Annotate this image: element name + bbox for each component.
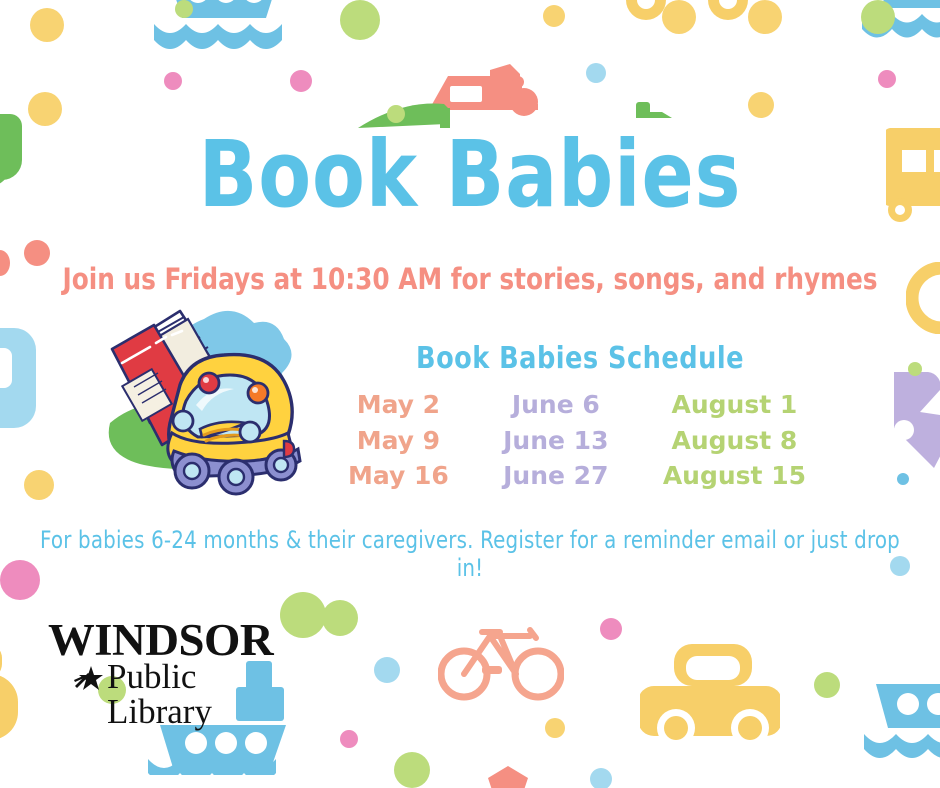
schedule-columns: May 2 May 9 May 16 June 6 June 13 June 2… (330, 390, 830, 492)
registration-note: For babies 6-24 months & their caregiver… (38, 526, 903, 582)
schedule-date: August 8 (663, 426, 806, 457)
schedule-section: Book Babies Schedule May 2 May 9 May 16 … (330, 344, 830, 492)
school-bus-and-book-illustration (88, 305, 303, 500)
schedule-date: August 15 (663, 461, 806, 492)
schedule-date: May 16 (348, 461, 449, 492)
schedule-date: June 6 (503, 390, 608, 421)
schedule-date: August 1 (663, 390, 806, 421)
schedule-heading: Book Babies Schedule (343, 344, 818, 374)
schedule-date: June 27 (503, 461, 608, 492)
schedule-column-august: August 1 August 8 August 15 (663, 390, 806, 492)
schedule-date: May 2 (348, 390, 449, 421)
windsor-public-library-logo: WINDSOR Public Library (48, 618, 278, 690)
star-comet-icon (74, 664, 104, 692)
event-subtitle: Join us Fridays at 10:30 AM for stories,… (24, 264, 917, 296)
schedule-date: June 13 (503, 426, 608, 457)
schedule-column-june: June 6 June 13 June 27 (503, 390, 608, 492)
logo-wordmark-public-library: Public Library (107, 659, 278, 729)
schedule-date: May 9 (348, 426, 449, 457)
page-title: Book Babies (33, 129, 907, 221)
schedule-column-may: May 2 May 9 May 16 (348, 390, 449, 492)
book-babies-flyer: Book Babies Join us Fridays at 10:30 AM … (0, 0, 940, 788)
logo-wordmark-windsor: WINDSOR (48, 618, 287, 663)
